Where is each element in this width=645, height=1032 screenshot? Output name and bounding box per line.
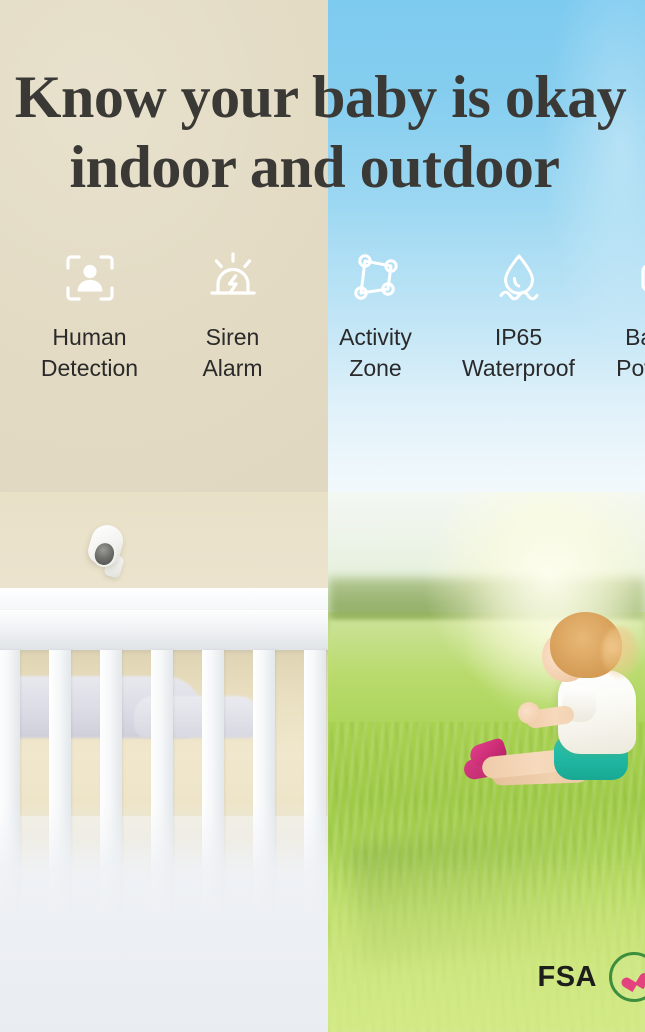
photo-section: FSA [0,492,645,1032]
feature-label: IP65 Waterproof [447,322,590,384]
fsa-label: FSA [538,961,598,994]
product-feature-banner: Know your baby is okay indoor and outdoo… [0,0,645,1032]
feature-item-human-detection: Human Detection [18,248,161,384]
indoor-nursery-photo [0,492,328,1032]
crib-rail [0,610,328,650]
toddler-hair-highlight [602,626,638,678]
siren-alarm-icon [161,248,304,308]
feature-label: Human Detection [18,322,161,384]
battery-powered-icon [590,248,645,308]
heart-icon [624,967,644,987]
crib-rail-cap [0,588,328,610]
feature-label: Battery Powered [590,322,645,384]
indoor-bottom-fade [0,802,328,1032]
headline-line-2: indoor and outdoor [0,132,645,202]
fsa-heart-circle-icon [609,952,645,1002]
human-detection-icon [18,248,161,308]
outdoor-meadow-photo: FSA [328,492,645,1032]
wall-mounted-security-camera [88,525,132,581]
toddler-sitting-on-grass [498,612,645,812]
grass-bottom-blur [328,852,645,1032]
feature-label: Activity Zone [304,322,447,384]
banner-section: Know your baby is okay indoor and outdoo… [0,0,645,492]
feature-label: Siren Alarm [161,322,304,384]
page-title: Know your baby is okay indoor and outdoo… [0,62,645,202]
feature-item-siren-alarm: Siren Alarm [161,248,304,384]
feature-item-battery-powered: Battery Powered [590,248,645,384]
feature-list: Human Detection Siren Alarm [0,248,645,384]
ip65-waterproof-icon [447,248,590,308]
feature-item-activity-zone: Activity Zone [304,248,447,384]
feature-item-ip65-waterproof: IP65 Waterproof [447,248,590,384]
headline-line-1: Know your baby is okay [0,62,645,132]
activity-zone-icon [304,248,447,308]
fsa-badge: FSA [538,952,645,1002]
toddler-hand [518,702,540,724]
